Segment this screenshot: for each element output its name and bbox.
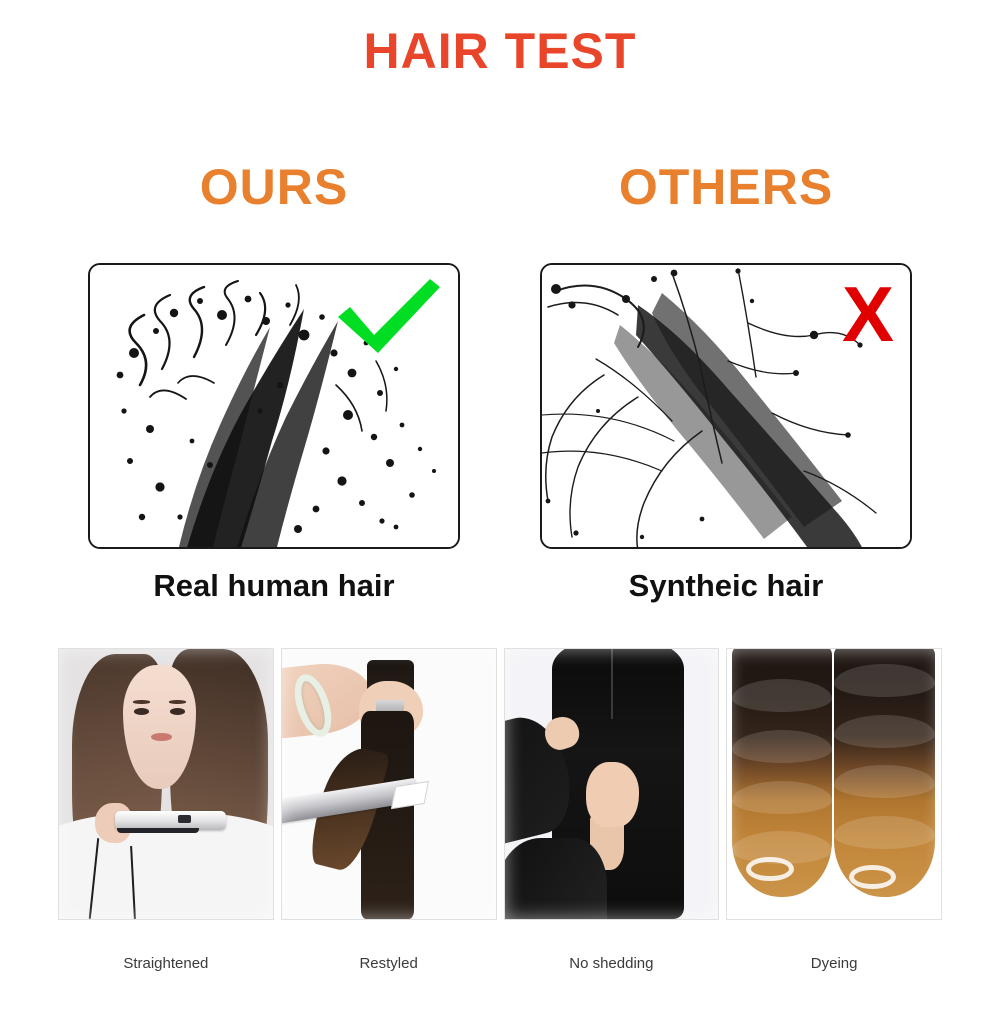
column-heading-others: OTHERS — [540, 158, 912, 216]
melted-fiber-art — [542, 265, 910, 547]
column-heading-ours: OURS — [88, 158, 460, 216]
photo-restyled — [281, 648, 497, 920]
burnt-real-hair-image — [90, 265, 458, 547]
photo-dyeing — [726, 648, 942, 920]
photo-caption-no-shedding: No shedding — [504, 955, 720, 972]
hair-test-infographic: HAIR TEST OURS OTHERS — [0, 0, 1000, 1009]
photo-straightened — [58, 648, 274, 920]
melted-synthetic-hair-image — [542, 265, 910, 547]
photo-strip — [58, 648, 942, 920]
page-title: HAIR TEST — [0, 22, 1000, 80]
comparison-caption-ours: Real human hair — [88, 568, 460, 604]
photo-caption-straightened: Straightened — [58, 955, 274, 972]
comparison-box-ours — [88, 263, 460, 549]
photo-caption-restyled: Restyled — [281, 955, 497, 972]
photo-caption-dyeing: Dyeing — [726, 955, 942, 972]
photo-no-shedding — [504, 648, 720, 920]
comparison-box-others: X — [540, 263, 912, 549]
ash-splatter-art — [90, 265, 458, 547]
comparison-caption-others: Syntheic hair — [540, 568, 912, 604]
photo-strip-captions: Straightened Restyled No shedding Dyeing — [58, 955, 942, 972]
